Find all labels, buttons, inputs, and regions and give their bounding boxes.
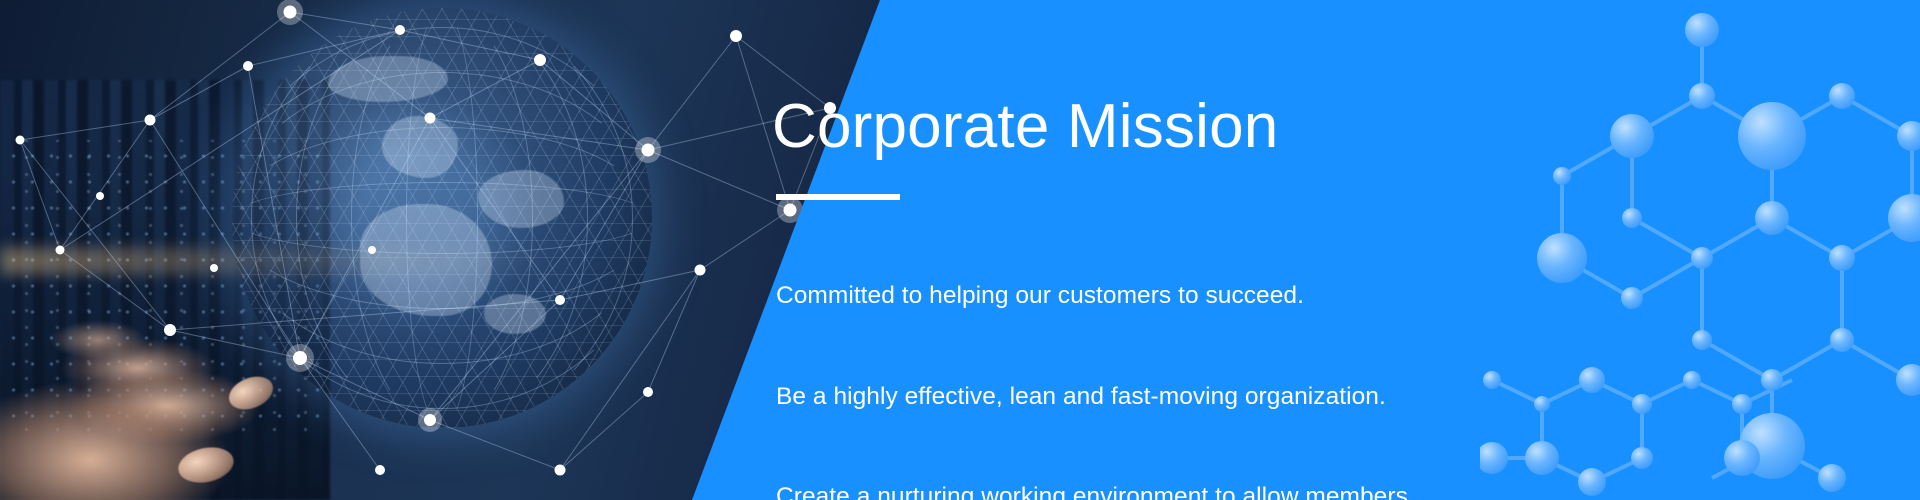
- mission-line: Committed to helping our customers to su…: [776, 279, 1416, 313]
- page-title: Corporate Mission: [772, 94, 1278, 161]
- banner-content: Corporate Mission Committed to helping o…: [772, 0, 1672, 500]
- mission-line: Create a nurturing working environment t…: [776, 480, 1416, 500]
- mission-line: Be a highly effective, lean and fast-mov…: [776, 380, 1416, 414]
- corporate-mission-banner: Corporate Mission Committed to helping o…: [0, 0, 1920, 500]
- mission-statement-list: Committed to helping our customers to su…: [776, 212, 1416, 500]
- title-divider: [776, 194, 900, 200]
